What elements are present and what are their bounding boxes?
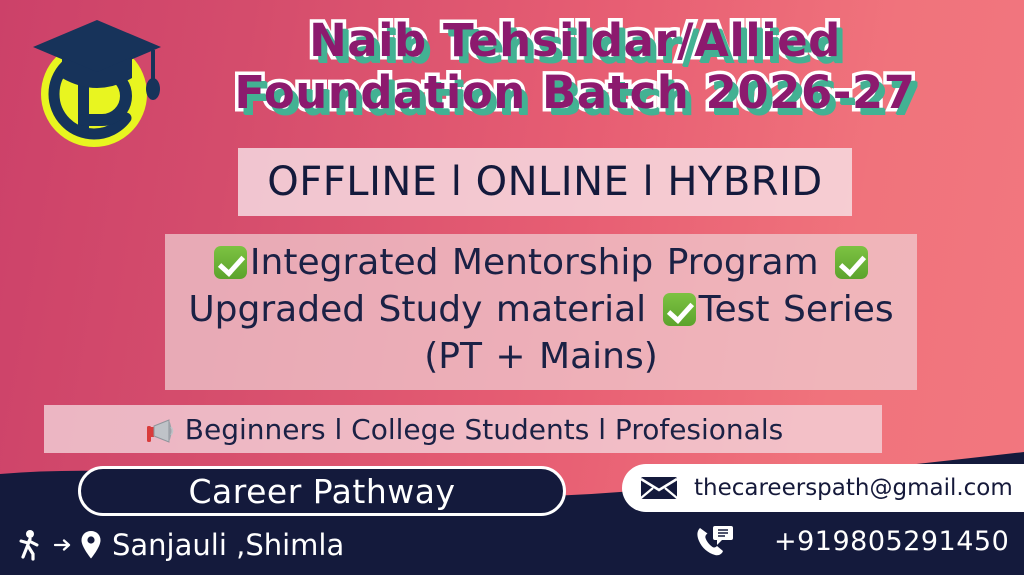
email-address: thecareerspath@gmail.com [694,475,1013,501]
promo-poster: Naib Tehsildar/Allied Foundation Batch 2… [0,0,1024,575]
career-pathway-logo [22,2,172,152]
walking-person-icon [18,529,48,561]
arrow-right-icon [54,537,74,553]
phone-message-icon [694,524,736,558]
feature-item-2: Upgraded Study material [188,289,646,330]
phone-row[interactable]: +919805291450 [694,524,1009,558]
features-text: Integrated Mentorship Program Upgraded S… [175,240,907,380]
check-icon [663,293,696,326]
brand-pill[interactable]: Career Pathway [78,466,566,516]
features-suffix: (PT + Mains) [424,336,658,377]
phone-number: +919805291450 [774,526,1009,557]
check-icon [214,246,247,279]
map-pin-icon [80,530,102,560]
location-row: Sanjauli ,Shimla [18,528,344,562]
feature-item-1: Integrated Mentorship Program [250,242,819,283]
title-line-1: Naib Tehsildar/Allied [180,18,970,64]
check-icon [835,246,868,279]
delivery-mode-text: OFFLINE l ONLINE l HYBRID [267,159,822,205]
delivery-mode-band: OFFLINE l ONLINE l HYBRID [238,148,852,216]
email-pill[interactable]: thecareerspath@gmail.com [622,464,1024,512]
envelope-icon [640,474,678,502]
title-line-2: Foundation Batch 2026-27 [180,70,970,116]
logo-graduation-cap-icon [22,2,172,152]
poster-title: Naib Tehsildar/Allied Foundation Batch 2… [180,18,970,116]
location-text: Sanjauli ,Shimla [112,528,344,562]
feature-item-3: Test Series [699,289,894,330]
brand-name: Career Pathway [188,472,455,511]
features-box: Integrated Mentorship Program Upgraded S… [165,234,917,390]
